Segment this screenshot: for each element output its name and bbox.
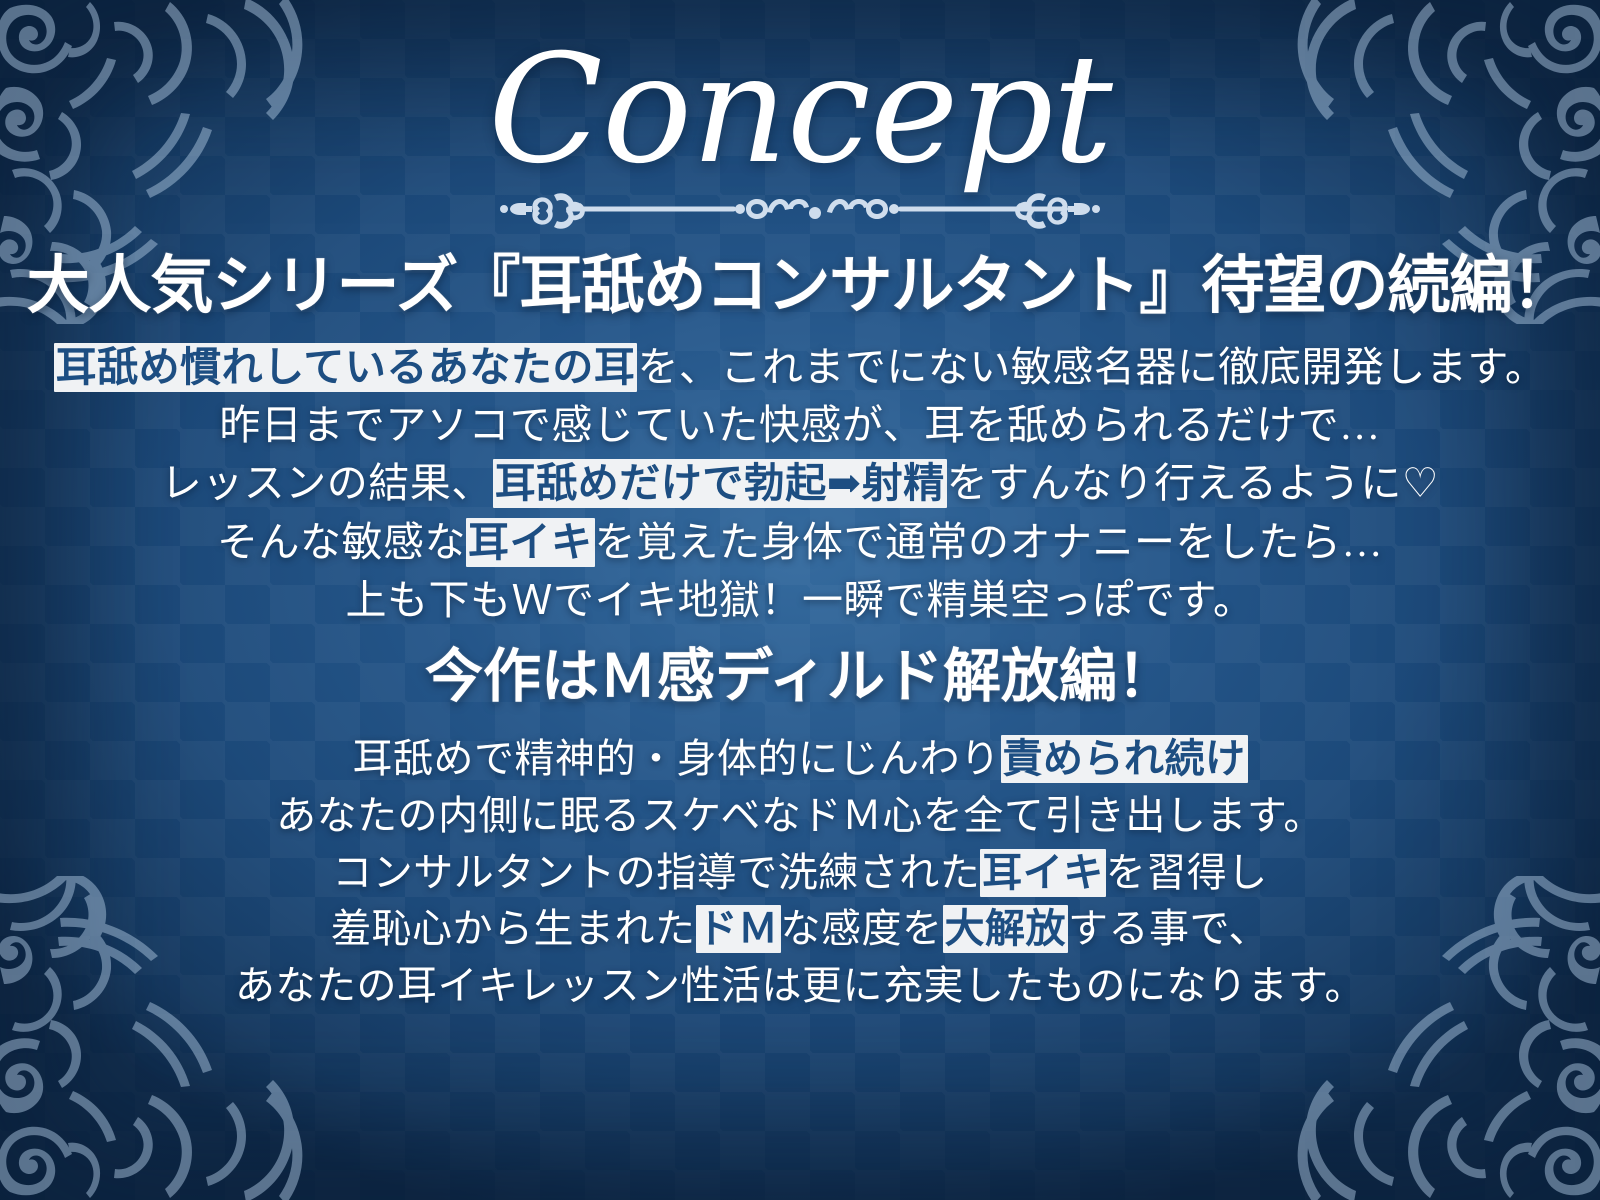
- plain-text-run: 羞恥心から生まれた: [331, 906, 696, 951]
- plain-text-run: を習得し: [1106, 850, 1268, 895]
- body-line: あなたの内側に眠るスケベなドＭ心を全て引き出します。: [276, 788, 1324, 845]
- body-line: 昨日までアソコで感じていた快感が、耳を舐められるだけで…: [219, 396, 1380, 454]
- highlighted-phrase: 耳イキ: [980, 849, 1106, 897]
- section-one-heading: 大人気シリーズ『耳舐めコンサルタント』待望の続編！: [27, 235, 1574, 326]
- highlighted-phrase: ドＭ: [696, 905, 781, 953]
- plain-text-run: 耳舐めで精神的・身体的にじんわり: [353, 736, 1001, 781]
- body-line: コンサルタントの指導で洗練された耳イキを習得し: [332, 845, 1268, 902]
- plain-text-run: する事で、: [1068, 906, 1269, 951]
- concept-banner: Concept: [0, 0, 1600, 1200]
- plain-text-run: コンサルタントの指導で洗練された: [332, 850, 980, 895]
- body-line: そんな敏感な耳イキを覚えた身体で通常のオナニーをしたら…: [217, 513, 1383, 571]
- plain-text-run: な感度を: [781, 906, 943, 951]
- page-title: Concept: [488, 34, 1112, 187]
- plain-text-run: をすんなり行えるように♡: [947, 460, 1440, 506]
- plain-text-run: あなたの耳イキレッスン性活は更に充実したものになります。: [235, 963, 1365, 1008]
- section-two-heading: 今作はＭ感ディルド解放編！: [425, 629, 1175, 713]
- highlighted-phrase: 大解放: [943, 905, 1069, 953]
- body-line: 耳舐め慣れしているあなたの耳を、これまでにない敏感名器に徹底開発します。: [54, 338, 1547, 396]
- body-line: 羞恥心から生まれたドＭな感度を大解放する事で、: [331, 901, 1269, 958]
- section-one-body: 耳舐め慣れしているあなたの耳を、これまでにない敏感名器に徹底開発します。 昨日ま…: [54, 338, 1547, 629]
- highlighted-phrase: 耳イキ: [466, 518, 595, 567]
- highlighted-phrase: 耳舐めだけで勃起➡射精: [493, 459, 947, 508]
- plain-text-run: 上も下もＷでイキ地獄！一瞬で精巣空っぽです。: [346, 577, 1255, 623]
- plain-text-run: を、これまでにない敏感名器に徹底開発します。: [637, 344, 1546, 390]
- ornamental-divider-icon: [470, 183, 1130, 235]
- body-line: 耳舐めで精神的・身体的にじんわり責められ続け: [353, 731, 1248, 788]
- highlighted-phrase: 耳舐め慣れしているあなたの耳: [54, 343, 638, 392]
- plain-text-run: あなたの内側に眠るスケベなドＭ心を全て引き出します。: [276, 793, 1324, 838]
- highlighted-phrase: 責められ続け: [1001, 735, 1248, 783]
- plain-text-run: レッスンの結果、: [161, 460, 493, 506]
- body-line: あなたの耳イキレッスン性活は更に充実したものになります。: [235, 958, 1365, 1015]
- body-line: 上も下もＷでイキ地獄！一瞬で精巣空っぽです。: [346, 571, 1255, 629]
- plain-text-run: 昨日までアソコで感じていた快感が、耳を舐められるだけで…: [219, 402, 1380, 448]
- section-two-body: 耳舐めで精神的・身体的にじんわり責められ続け あなたの内側に眠るスケベなドＭ心を…: [235, 731, 1365, 1015]
- plain-text-run: そんな敏感な: [217, 519, 466, 565]
- plain-text-run: を覚えた身体で通常のオナニーをしたら…: [595, 519, 1384, 565]
- body-line: レッスンの結果、耳舐めだけで勃起➡射精をすんなり行えるように♡: [161, 454, 1439, 512]
